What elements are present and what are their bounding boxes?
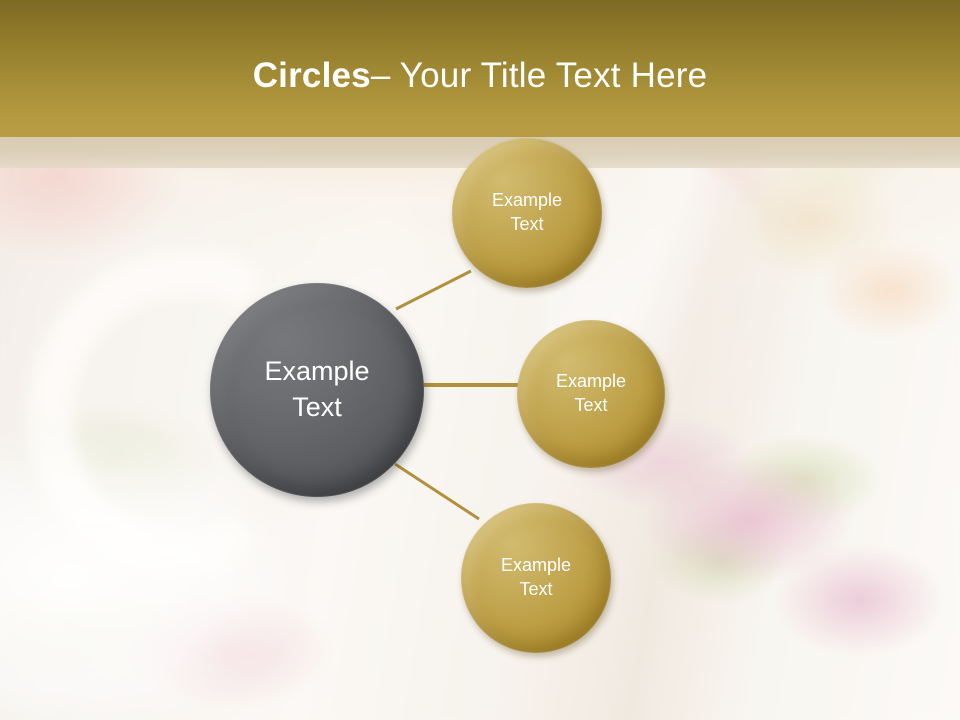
center-node-label: ExampleText xyxy=(264,354,369,425)
slide-canvas: Circles – Your Title Text Here ExampleTe… xyxy=(0,0,960,720)
spoke-node-bottom-circle[interactable]: ExampleText xyxy=(461,503,611,653)
page-title-strong: Circles xyxy=(253,56,371,96)
center-node-circle[interactable]: ExampleText xyxy=(210,283,424,497)
spoke-node-bottom-label-line2: Text xyxy=(519,579,552,599)
page-title-rest: – Your Title Text Here xyxy=(371,56,707,96)
spoke-node-right-label: ExampleText xyxy=(556,370,626,418)
spoke-node-top-label-line2: Text xyxy=(510,214,543,234)
spoke-node-right-label-line2: Text xyxy=(574,395,607,415)
spoke-node-right-circle[interactable]: ExampleText xyxy=(517,320,665,468)
center-node-label-line1: Example xyxy=(264,356,369,386)
spoke-node-right-label-line1: Example xyxy=(556,371,626,391)
spoke-node-top-circle[interactable]: ExampleText xyxy=(452,138,602,288)
spoke-node-bottom-label-line1: Example xyxy=(501,555,571,575)
spoke-node-top-label-line1: Example xyxy=(492,190,562,210)
page-title: Circles – Your Title Text Here xyxy=(0,0,960,137)
spoke-node-top-label: ExampleText xyxy=(492,189,562,237)
spoke-node-bottom-label: ExampleText xyxy=(501,554,571,602)
center-node-label-line2: Text xyxy=(292,392,342,422)
